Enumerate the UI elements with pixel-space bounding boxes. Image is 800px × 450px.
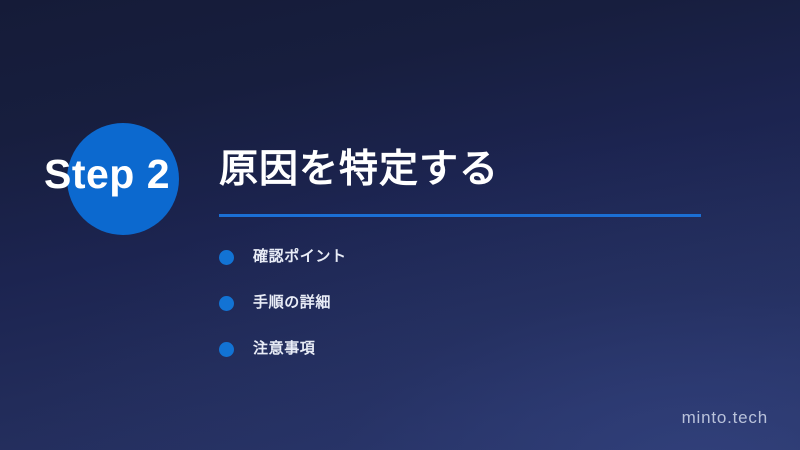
footer-brand-label: minto.tech — [682, 408, 768, 428]
slide-content: Step 2 原因を特定する 確認ポイント 手順の詳細 注意事項 minto.t… — [0, 0, 800, 450]
list-item: 確認ポイント — [219, 234, 701, 280]
list-item: 注意事項 — [219, 326, 701, 372]
list-item: 手順の詳細 — [219, 280, 701, 326]
bullet-dot-icon — [219, 250, 234, 265]
presentation-slide: Step 2 原因を特定する 確認ポイント 手順の詳細 注意事項 minto.t… — [0, 0, 800, 450]
bullet-list: 確認ポイント 手順の詳細 注意事項 — [219, 234, 701, 372]
bullet-dot-icon — [219, 342, 234, 357]
list-item-label: 手順の詳細 — [253, 293, 331, 313]
list-item-label: 注意事項 — [253, 339, 315, 359]
title-divider — [219, 214, 701, 217]
bullet-dot-icon — [219, 296, 234, 311]
list-item-label: 確認ポイント — [253, 247, 347, 267]
slide-title: 原因を特定する — [219, 146, 499, 194]
